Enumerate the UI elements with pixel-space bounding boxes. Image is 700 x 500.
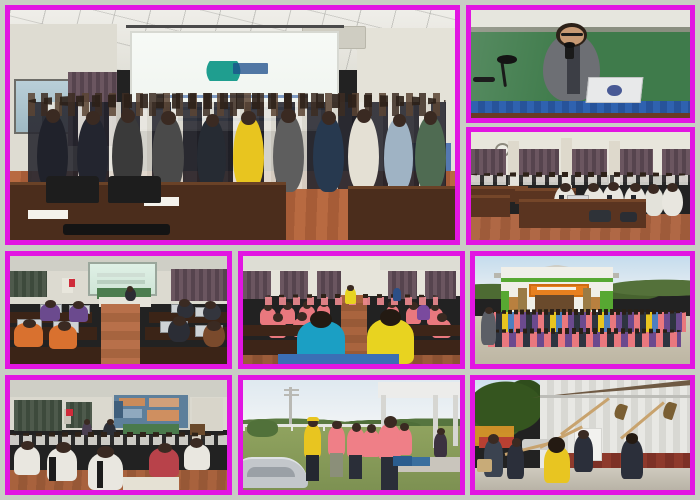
photo-content	[475, 380, 690, 490]
photo-collage	[0, 0, 700, 500]
photo-content	[243, 256, 460, 364]
photo-content	[475, 256, 690, 364]
collage-photo-pink-shirt-students[interactable]	[238, 251, 465, 369]
collage-photo-speaker-microphone[interactable]	[466, 5, 695, 123]
photo-content	[243, 380, 460, 490]
photo-content	[471, 10, 690, 118]
photo-content	[471, 132, 690, 240]
collage-photo-students-cleaning-wall[interactable]	[470, 375, 695, 495]
collage-photo-outdoor-group-building[interactable]	[470, 251, 695, 369]
photo-content	[10, 10, 455, 240]
collage-photo-outdoor-briefing-lawn[interactable]	[238, 375, 465, 495]
photo-content	[10, 380, 227, 490]
collage-photo-seminar-slideshow[interactable]	[5, 375, 232, 495]
collage-photo-computer-training-room[interactable]	[5, 251, 232, 369]
collage-photo-group-seminar[interactable]	[5, 5, 460, 245]
photo-content	[10, 256, 227, 364]
collage-photo-classroom-white-uniforms[interactable]	[466, 127, 695, 245]
